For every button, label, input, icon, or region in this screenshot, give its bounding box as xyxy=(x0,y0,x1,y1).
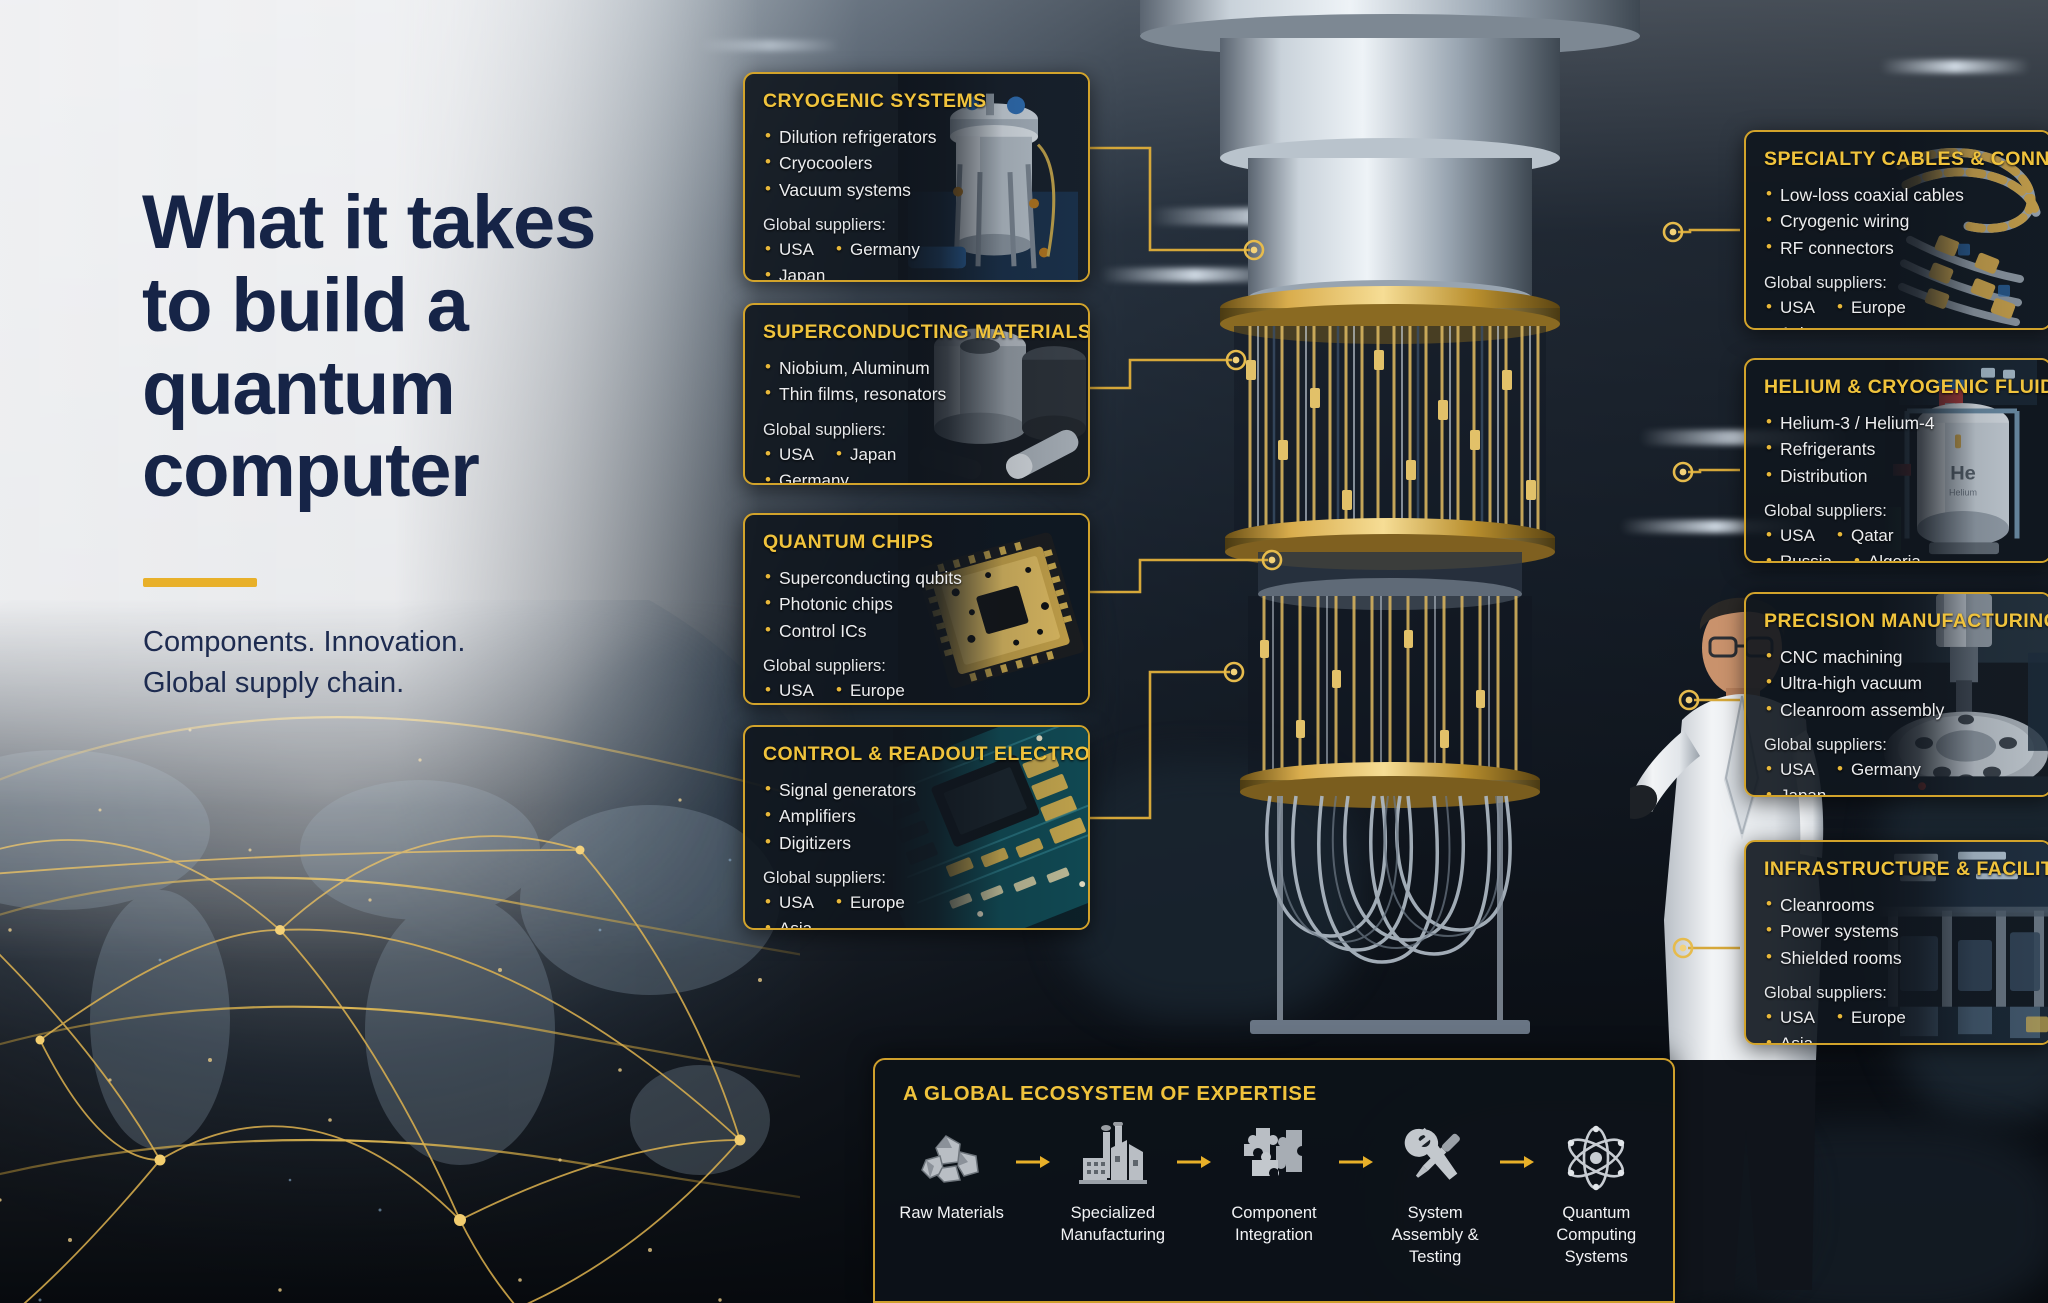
quantum-computer-cryostat xyxy=(1130,0,1650,1080)
arrow-right-icon xyxy=(1174,1152,1214,1172)
supplier-row: Asia xyxy=(763,916,1090,930)
headline-line: quantum xyxy=(142,348,702,431)
supplier: Germany xyxy=(834,237,920,263)
ceiling-light xyxy=(1880,60,2030,73)
supplier: Asia xyxy=(1764,1031,1813,1045)
headline-line: What it takes xyxy=(142,182,702,265)
infographic-canvas: What it takes to build a quantum compute… xyxy=(0,0,2048,1303)
bullet: RF connectors xyxy=(1764,235,2048,262)
supplier: USA xyxy=(1764,295,1815,321)
card-body: PRECISION MANUFACTURING CNC machining Ul… xyxy=(1746,594,2048,795)
supplier-row: USAJapan xyxy=(763,442,1090,468)
card-bullets: Signal generators Amplifiers Digitizers xyxy=(763,777,1090,857)
bullet: Photonic chips xyxy=(763,591,962,618)
factory-icon xyxy=(1077,1122,1149,1194)
card-title: CONTROL & READOUT ELECTRONICS xyxy=(763,743,1090,766)
ecosystem-step-label: System Assembly & Testing xyxy=(1374,1203,1495,1268)
suppliers-label: Global suppliers: xyxy=(763,869,1090,888)
card-title: CRYOGENIC SYSTEMS xyxy=(763,90,987,113)
subtitle-line: Global supply chain. xyxy=(143,663,563,704)
supplier-row: USAQatar xyxy=(1764,523,2048,549)
arrow-right-icon xyxy=(1335,1152,1375,1172)
card-title: SPECIALTY CABLES & CONNECTORS xyxy=(1764,148,2048,171)
bullet: Signal generators xyxy=(763,777,1090,804)
supplier: Algeria xyxy=(1852,549,1921,563)
supplier: Qatar xyxy=(1835,523,1894,549)
arrow-right-icon xyxy=(1496,1152,1536,1172)
suppliers-list: USAJapan Germany xyxy=(763,442,1090,485)
card-cryogenic-systems[interactable]: CRYOGENIC SYSTEMS Dilution refrigerators… xyxy=(743,72,1090,282)
card-bullets: Superconducting qubits Photonic chips Co… xyxy=(763,565,962,645)
page-title: What it takes to build a quantum compute… xyxy=(142,182,702,513)
card-bullets: CNC machining Ultra-high vacuum Cleanroo… xyxy=(1764,644,2048,724)
bullet: Cryogenic wiring xyxy=(1764,208,2048,235)
headline-line: computer xyxy=(142,430,702,513)
supplier: Japan xyxy=(1764,783,1826,797)
supplier: Japan xyxy=(763,263,825,282)
suppliers-label: Global suppliers: xyxy=(763,657,962,676)
bullet: Digitizers xyxy=(763,830,1090,857)
supplier-row: Japan xyxy=(1764,783,2048,797)
bullet: Cleanrooms xyxy=(1764,892,2048,919)
supplier-row: USAGermany xyxy=(1764,757,2048,783)
supplier-row: USAEurope xyxy=(1764,295,2048,321)
supplier: USA xyxy=(1764,757,1815,783)
card-body: CRYOGENIC SYSTEMS Dilution refrigerators… xyxy=(745,74,997,280)
atom-icon xyxy=(1560,1122,1632,1194)
card-body: SUPERCONDUCTING MATERIALS Niobium, Alumi… xyxy=(745,305,1090,483)
suppliers-label: Global suppliers: xyxy=(763,216,987,235)
bullet: Refrigerants xyxy=(1764,436,2048,463)
supplier: Germany xyxy=(763,468,849,485)
card-body: QUANTUM CHIPS Superconducting qubits Pho… xyxy=(745,515,972,703)
suppliers-list: USAGermany Japan xyxy=(763,237,987,282)
bullet: Cryocoolers xyxy=(763,150,987,177)
card-precision-manufacturing[interactable]: PRECISION MANUFACTURING CNC machining Ul… xyxy=(1744,592,2048,797)
supplier-row: Asia xyxy=(1764,321,2048,330)
puzzle-pieces-icon xyxy=(1238,1122,1310,1194)
suppliers-list: USAQatar RussiaAlgeria xyxy=(1764,523,2048,563)
supplier: Europe xyxy=(834,678,905,704)
card-bullets: Dilution refrigerators Cryocoolers Vacuu… xyxy=(763,124,987,204)
bullet: Distribution xyxy=(1764,463,2048,490)
supplier: Europe xyxy=(834,890,905,916)
supplier-row: USAEurope xyxy=(763,890,1090,916)
bullet: Ultra-high vacuum xyxy=(1764,670,2048,697)
suppliers-label: Global suppliers: xyxy=(1764,274,2048,293)
supplier-row: Germany xyxy=(763,468,1090,485)
card-helium-cryogenic-fluids[interactable]: He Helium HELIUM & CRYOGENIC FLUIDS Heli… xyxy=(1744,358,2048,563)
ecosystem-step-specialized-manufacturing[interactable]: Specialized Manufacturing xyxy=(1052,1122,1173,1247)
subtitle-line: Components. Innovation. xyxy=(143,622,563,663)
card-bullets: Low-loss coaxial cables Cryogenic wiring… xyxy=(1764,182,2048,262)
supplier: Germany xyxy=(1835,757,1921,783)
bullet: Niobium, Aluminum xyxy=(763,355,1090,382)
ecosystem-step-system-assembly-testing[interactable]: System Assembly & Testing xyxy=(1374,1122,1495,1268)
bullet: Amplifiers xyxy=(763,803,1090,830)
ecosystem-flow: Raw Materials xyxy=(891,1122,1657,1297)
card-bullets: Cleanrooms Power systems Shielded rooms xyxy=(1764,892,2048,972)
supplier: Asia xyxy=(763,916,812,930)
ecosystem-step-label: Raw Materials xyxy=(899,1203,1004,1225)
hero-subtitle: Components. Innovation. Global supply ch… xyxy=(143,622,563,704)
wrench-screwdriver-icon xyxy=(1399,1122,1471,1194)
supplier: Europe xyxy=(1835,295,1906,321)
card-specialty-cables-connectors[interactable]: SPECIALTY CABLES & CONNECTORS Low-loss c… xyxy=(1744,130,2048,330)
supplier: USA xyxy=(763,890,814,916)
suppliers-list: USAEurope Asia xyxy=(1764,295,2048,330)
bullet: Cleanroom assembly xyxy=(1764,697,2048,724)
supplier: USA xyxy=(763,237,814,263)
supplier-row: Asia xyxy=(1764,1031,2048,1045)
supplier: Russia xyxy=(1764,549,1832,563)
bullet: Superconducting qubits xyxy=(763,565,962,592)
bullet: Helium-3 / Helium-4 xyxy=(1764,410,2048,437)
arrow-right-icon xyxy=(1012,1152,1052,1172)
suppliers-label: Global suppliers: xyxy=(763,421,1090,440)
bullet: Low-loss coaxial cables xyxy=(1764,182,2048,209)
supplier: Japan xyxy=(834,442,896,468)
card-body: SPECIALTY CABLES & CONNECTORS Low-loss c… xyxy=(1746,132,2048,328)
accent-divider xyxy=(143,578,257,587)
card-body: INFRASTRUCTURE & FACILITIES Cleanrooms P… xyxy=(1746,842,2048,1043)
supplier: USA xyxy=(1764,523,1815,549)
bullet: Vacuum systems xyxy=(763,177,987,204)
card-bullets: Helium-3 / Helium-4 Refrigerants Distrib… xyxy=(1764,410,2048,490)
suppliers-list: USAEurope Asia xyxy=(763,890,1090,930)
supplier: Asia xyxy=(763,704,812,705)
supplier: Asia xyxy=(1764,321,1813,330)
card-title: INFRASTRUCTURE & FACILITIES xyxy=(1764,858,2048,881)
ecosystem-step-raw-materials[interactable]: Raw Materials xyxy=(891,1122,1012,1225)
supplier: Europe xyxy=(1835,1005,1906,1031)
global-network-globe xyxy=(0,600,800,1303)
supplier-row: USAEurope xyxy=(1764,1005,2048,1031)
card-bullets: Niobium, Aluminum Thin films, resonators xyxy=(763,355,1090,408)
suppliers-label: Global suppliers: xyxy=(1764,502,2048,521)
card-infrastructure-facilities[interactable]: INFRASTRUCTURE & FACILITIES Cleanrooms P… xyxy=(1744,840,2048,1045)
card-body: HELIUM & CRYOGENIC FLUIDS Helium-3 / Hel… xyxy=(1746,360,2048,561)
card-control-readout-electronics[interactable]: CONTROL & READOUT ELECTRONICS Signal gen… xyxy=(743,725,1090,930)
suppliers-list: USAEurope Asia xyxy=(1764,1005,2048,1045)
supplier-row: Japan xyxy=(763,263,987,282)
ecosystem-step-quantum-computing-systems[interactable]: Quantum Computing Systems xyxy=(1536,1122,1657,1268)
bullet: Control ICs xyxy=(763,618,962,645)
suppliers-list: USAGermany Japan xyxy=(1764,757,2048,797)
card-superconducting-materials[interactable]: SUPERCONDUCTING MATERIALS Niobium, Alumi… xyxy=(743,303,1090,485)
suppliers-list: USAEurope Asia xyxy=(763,678,962,705)
supplier-row: USAEurope xyxy=(763,678,962,704)
bullet: Thin films, resonators xyxy=(763,381,1090,408)
bullet: Power systems xyxy=(1764,918,2048,945)
supplier: USA xyxy=(763,442,814,468)
bullet: Shielded rooms xyxy=(1764,945,2048,972)
suppliers-label: Global suppliers: xyxy=(1764,736,2048,755)
card-title: SUPERCONDUCTING MATERIALS xyxy=(763,321,1090,344)
card-title: PRECISION MANUFACTURING xyxy=(1764,610,2048,633)
card-title: HELIUM & CRYOGENIC FLUIDS xyxy=(1764,376,2048,399)
card-title: QUANTUM CHIPS xyxy=(763,531,962,554)
ecosystem-step-label: Quantum Computing Systems xyxy=(1536,1203,1657,1268)
ecosystem-panel: A GLOBAL ECOSYSTEM OF EXPERTISE xyxy=(873,1058,1675,1303)
suppliers-label: Global suppliers: xyxy=(1764,984,2048,1003)
supplier: USA xyxy=(1764,1005,1815,1031)
ecosystem-title: A GLOBAL ECOSYSTEM OF EXPERTISE xyxy=(903,1082,1317,1106)
card-quantum-chips[interactable]: QUANTUM CHIPS Superconducting qubits Pho… xyxy=(743,513,1090,705)
raw-materials-icon xyxy=(916,1122,988,1194)
supplier-row: USAGermany xyxy=(763,237,987,263)
bullet: CNC machining xyxy=(1764,644,2048,671)
ecosystem-step-label: Specialized Manufacturing xyxy=(1052,1203,1173,1247)
ceiling-light xyxy=(700,40,840,51)
ecosystem-step-label: Component Integration xyxy=(1213,1203,1334,1247)
supplier-row: Asia xyxy=(763,704,962,705)
card-body: CONTROL & READOUT ELECTRONICS Signal gen… xyxy=(745,727,1090,928)
supplier: USA xyxy=(763,678,814,704)
bullet: Dilution refrigerators xyxy=(763,124,987,151)
supplier-row: RussiaAlgeria xyxy=(1764,549,2048,563)
ecosystem-step-component-integration[interactable]: Component Integration xyxy=(1213,1122,1334,1247)
headline-line: to build a xyxy=(142,265,702,348)
